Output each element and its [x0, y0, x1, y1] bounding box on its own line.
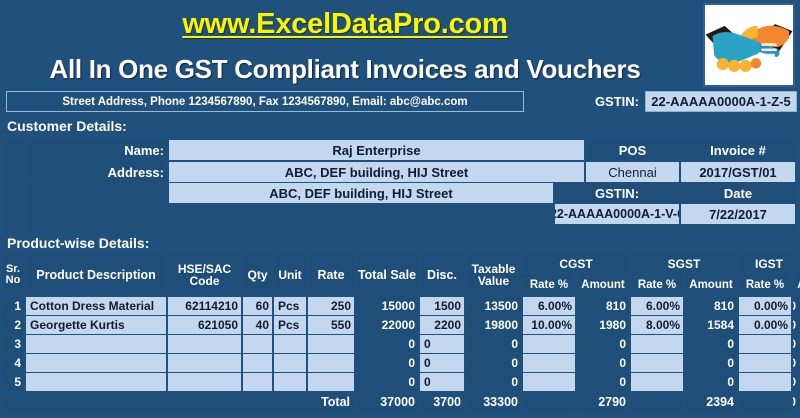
- cell-igst-amt-row-3[interactable]: 0: [793, 335, 799, 353]
- handshake-logo: [703, 3, 795, 87]
- cell-sgst-rate-row-5[interactable]: [631, 373, 683, 391]
- cell-igst-amt-row-1[interactable]: 0: [793, 297, 799, 315]
- cell-sgst-rate-row-1[interactable]: 6.00%: [631, 297, 683, 315]
- cell-disc-row-5[interactable]: 0: [420, 373, 464, 391]
- total-disc: 3700: [420, 393, 464, 411]
- cell-desc-row-1[interactable]: Cotton Dress Material: [26, 297, 166, 315]
- col-header-igst-amount: Amount: [793, 274, 800, 295]
- cell-cgst-rate-row-1[interactable]: 6.00%: [523, 297, 575, 315]
- cell-igst-amt-row-4[interactable]: 0: [793, 354, 799, 372]
- cell-sr-row-1[interactable]: 1: [2, 297, 24, 315]
- cell-hsn-row-4[interactable]: [168, 354, 241, 372]
- invoice-date-filler: [681, 225, 795, 232]
- cell-taxable-row-2[interactable]: 19800: [466, 316, 521, 334]
- cell-taxable-row-1[interactable]: 13500: [466, 297, 521, 315]
- total-total-sale: 37000: [356, 393, 418, 411]
- total-igst-rate: [739, 393, 791, 411]
- cell-sr-row-3[interactable]: 3: [2, 335, 24, 353]
- cell-rate-row-2[interactable]: 550: [308, 316, 354, 334]
- cell-total-sale-row-1[interactable]: 15000: [356, 297, 418, 315]
- total-igst-amt: 0: [793, 393, 799, 411]
- col-header-cgst-amount: Amount: [577, 274, 629, 295]
- cell-sgst-amt-row-1[interactable]: 810: [685, 297, 737, 315]
- cell-cgst-rate-row-4[interactable]: [523, 354, 575, 372]
- invoice-sheet: www.ExcelDataPro.com All In One GST Comp…: [0, 0, 800, 418]
- total-taxable: 33300: [466, 393, 521, 411]
- customer-address-line3[interactable]: [169, 204, 553, 232]
- customer-details-heading: Customer Details:: [0, 116, 800, 136]
- col-header-hsn-line2: Code: [190, 275, 220, 287]
- col-header-disc: Disc.: [420, 255, 464, 295]
- cell-igst-rate-row-3[interactable]: [739, 335, 791, 353]
- cell-desc-row-2[interactable]: Georgette Kurtis: [26, 316, 166, 334]
- col-header-hsn: HSE/SAC Code: [168, 255, 241, 295]
- cell-unit-row-5[interactable]: [274, 373, 306, 391]
- cell-hsn-row-1[interactable]: 62114210: [168, 297, 241, 315]
- customer-gstin-value[interactable]: 22-AAAAA0000A-1-V-6: [555, 204, 679, 224]
- cell-total-sale-row-2[interactable]: 22000: [356, 316, 418, 334]
- cell-cgst-rate-row-2[interactable]: 10.00%: [523, 316, 575, 334]
- customer-gstin-label: GSTIN:: [555, 183, 679, 203]
- cell-sgst-rate-row-3[interactable]: [631, 335, 683, 353]
- cell-cgst-amt-row-5[interactable]: 0: [577, 373, 629, 391]
- customer-address-line2[interactable]: ABC, DEF building, HIJ Street: [169, 183, 553, 203]
- cell-sr-row-4[interactable]: 4: [2, 354, 24, 372]
- col-header-igst-rate: Rate %: [739, 274, 791, 295]
- cell-qty-row-4[interactable]: [243, 354, 272, 372]
- cell-cgst-amt-row-1[interactable]: 810: [577, 297, 629, 315]
- col-header-qty: Qty: [243, 255, 272, 295]
- cell-hsn-row-5[interactable]: [168, 373, 241, 391]
- customer-address-line1[interactable]: ABC, DEF building, HIJ Street: [169, 162, 584, 182]
- customer-left-spacer: [6, 140, 24, 232]
- col-header-taxable-value: TaxableValue: [466, 255, 521, 295]
- col-header-cgst-rate: Rate %: [523, 274, 575, 295]
- col-header-taxable-line2: Value: [478, 275, 509, 287]
- company-address: Street Address, Phone 1234567890, Fax 12…: [6, 91, 524, 112]
- customer-name-label: Name:: [27, 140, 167, 160]
- cell-desc-row-3[interactable]: [26, 335, 166, 353]
- cell-hsn-row-3[interactable]: [168, 335, 241, 353]
- col-header-total-sale: Total Sale: [356, 255, 418, 295]
- cell-qty-row-5[interactable]: [243, 373, 272, 391]
- cell-sr-row-5[interactable]: 5: [2, 373, 24, 391]
- cell-igst-amt-row-5[interactable]: 0: [793, 373, 799, 391]
- cell-sgst-rate-row-2[interactable]: 8.00%: [631, 316, 683, 334]
- cell-cgst-amt-row-3[interactable]: 0: [577, 335, 629, 353]
- cell-sgst-amt-row-3[interactable]: 0: [685, 335, 737, 353]
- cell-rate-row-5[interactable]: [308, 373, 354, 391]
- col-header-description: Product Description: [26, 255, 166, 295]
- cell-total-sale-row-5[interactable]: 0: [356, 373, 418, 391]
- total-sgst-amt: 2394: [685, 393, 737, 411]
- cell-total-sale-row-4[interactable]: 0: [356, 354, 418, 372]
- customer-name-value[interactable]: Raj Enterprise: [169, 140, 584, 160]
- cell-desc-row-4[interactable]: [26, 354, 166, 372]
- cell-igst-rate-row-4[interactable]: [739, 354, 791, 372]
- col-header-unit: Unit: [274, 255, 306, 295]
- total-row-label: Total: [2, 393, 354, 411]
- cell-igst-rate-row-1[interactable]: 0.00%: [739, 297, 791, 315]
- cell-disc-row-1[interactable]: 1500: [420, 297, 464, 315]
- cell-rate-row-1[interactable]: 250: [308, 297, 354, 315]
- cell-sgst-rate-row-4[interactable]: [631, 354, 683, 372]
- cell-sr-row-2[interactable]: 2: [2, 316, 24, 334]
- invoice-date-label: Date: [681, 183, 795, 203]
- invoice-number-label: Invoice #: [681, 140, 795, 160]
- cell-cgst-rate-row-3[interactable]: [523, 335, 575, 353]
- customer-label-filler: [27, 183, 167, 232]
- col-header-sr-line2: No: [6, 275, 21, 286]
- col-header-sr-no: Sr. No: [2, 255, 24, 295]
- cell-qty-row-2[interactable]: 40: [243, 316, 272, 334]
- cell-cgst-rate-row-5[interactable]: [523, 373, 575, 391]
- cell-disc-row-2[interactable]: 2200: [420, 316, 464, 334]
- cell-igst-rate-row-2[interactable]: 0.00%: [739, 316, 791, 334]
- cell-rate-row-4[interactable]: [308, 354, 354, 372]
- company-gstin-value[interactable]: 22-AAAAA0000A-1-Z-5: [645, 91, 797, 112]
- group-header-sgst: SGST: [631, 255, 737, 272]
- cell-disc-row-3[interactable]: 0: [420, 335, 464, 353]
- cell-unit-row-4[interactable]: [274, 354, 306, 372]
- page-title: All In One GST Compliant Invoices and Vo…: [0, 50, 690, 88]
- cell-sgst-amt-row-4[interactable]: 0: [685, 354, 737, 372]
- cell-sgst-amt-row-2[interactable]: 1584: [685, 316, 737, 334]
- cell-cgst-amt-row-4[interactable]: 0: [577, 354, 629, 372]
- cell-taxable-row-4[interactable]: 0: [466, 354, 521, 372]
- customer-gstin-filler: [555, 225, 679, 232]
- pos-label: POS: [586, 140, 679, 160]
- cell-cgst-amt-row-2[interactable]: 1980: [577, 316, 629, 334]
- site-url-heading[interactable]: www.ExcelDataPro.com: [0, 4, 690, 44]
- col-header-sgst-amount: Amount: [685, 274, 737, 295]
- cell-unit-row-1[interactable]: Pcs: [274, 297, 306, 315]
- cell-unit-row-3[interactable]: [274, 335, 306, 353]
- total-sgst-rate: [631, 393, 683, 411]
- customer-address-label: Address:: [27, 162, 167, 182]
- cell-qty-row-3[interactable]: [243, 335, 272, 353]
- company-gstin-label: GSTIN:: [528, 91, 644, 112]
- cell-desc-row-5[interactable]: [26, 373, 166, 391]
- product-details-heading: Product-wise Details:: [0, 233, 800, 253]
- pos-value[interactable]: Chennai: [586, 162, 679, 182]
- cell-igst-rate-row-5[interactable]: [739, 373, 791, 391]
- cell-unit-row-2[interactable]: Pcs: [274, 316, 306, 334]
- cell-hsn-row-2[interactable]: 621050: [168, 316, 241, 334]
- cell-qty-row-1[interactable]: 60: [243, 297, 272, 315]
- cell-taxable-row-3[interactable]: 0: [466, 335, 521, 353]
- cell-sgst-amt-row-5[interactable]: 0: [685, 373, 737, 391]
- cell-total-sale-row-3[interactable]: 0: [356, 335, 418, 353]
- group-header-igst: IGST: [739, 255, 799, 272]
- col-header-sgst-rate: Rate %: [631, 274, 683, 295]
- total-cgst-amt: 2790: [577, 393, 629, 411]
- invoice-date-value[interactable]: 7/22/2017: [681, 204, 795, 224]
- group-header-cgst: CGST: [523, 255, 629, 272]
- cell-taxable-row-5[interactable]: 0: [466, 373, 521, 391]
- invoice-number-value[interactable]: 2017/GST/01: [681, 162, 795, 182]
- cell-disc-row-4[interactable]: 0: [420, 354, 464, 372]
- cell-igst-amt-row-2[interactable]: 0: [793, 316, 799, 334]
- col-header-rate: Rate: [308, 255, 354, 295]
- cell-rate-row-3[interactable]: [308, 335, 354, 353]
- total-cgst-rate: [523, 393, 575, 411]
